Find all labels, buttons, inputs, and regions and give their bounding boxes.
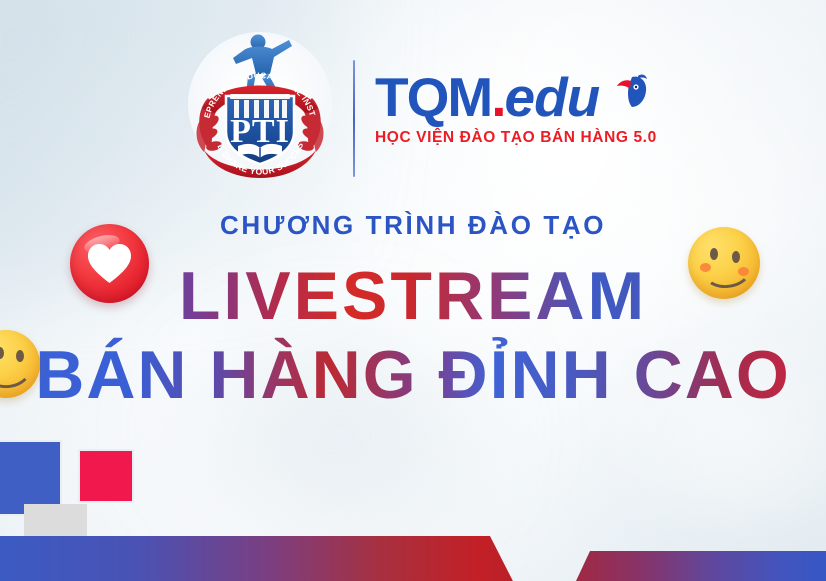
tqm-tagline: HỌC VIỆN ĐÀO TẠO BÁN HÀNG 5.0	[375, 129, 645, 147]
svg-text:PTI: PTI	[230, 113, 290, 150]
smiley-face-icon-left	[0, 330, 40, 398]
promo-banner: PTI ENTREPRENEUR EDUCATIONAL INSTITUTE W…	[0, 0, 826, 581]
bottom-bar-right	[576, 551, 826, 581]
tqm-dot: .	[491, 66, 504, 128]
tqm-suffix: edu	[504, 66, 599, 128]
bottom-bar-left	[0, 533, 520, 581]
tqm-wordmark: TQM.edu	[375, 68, 645, 126]
tqm-text: TQM	[375, 66, 491, 128]
headline-line-2: BÁN HÀNG ĐỈNH CAO	[0, 337, 826, 413]
logo-row: PTI ENTREPRENEUR EDUCATIONAL INSTITUTE W…	[0, 0, 826, 200]
decor-square-red	[78, 449, 134, 503]
logo-divider	[353, 60, 355, 177]
love-reaction-icon	[70, 224, 149, 303]
pti-crest-logo: PTI ENTREPRENEUR EDUCATIONAL INSTITUTE W…	[186, 24, 334, 180]
eagle-head-icon	[614, 73, 648, 115]
smiley-face-icon-right	[688, 227, 760, 299]
tqm-edu-logo: TQM.edu HỌC VIỆN ĐÀO TẠO BÁN HÀNG 5.0	[375, 68, 645, 168]
